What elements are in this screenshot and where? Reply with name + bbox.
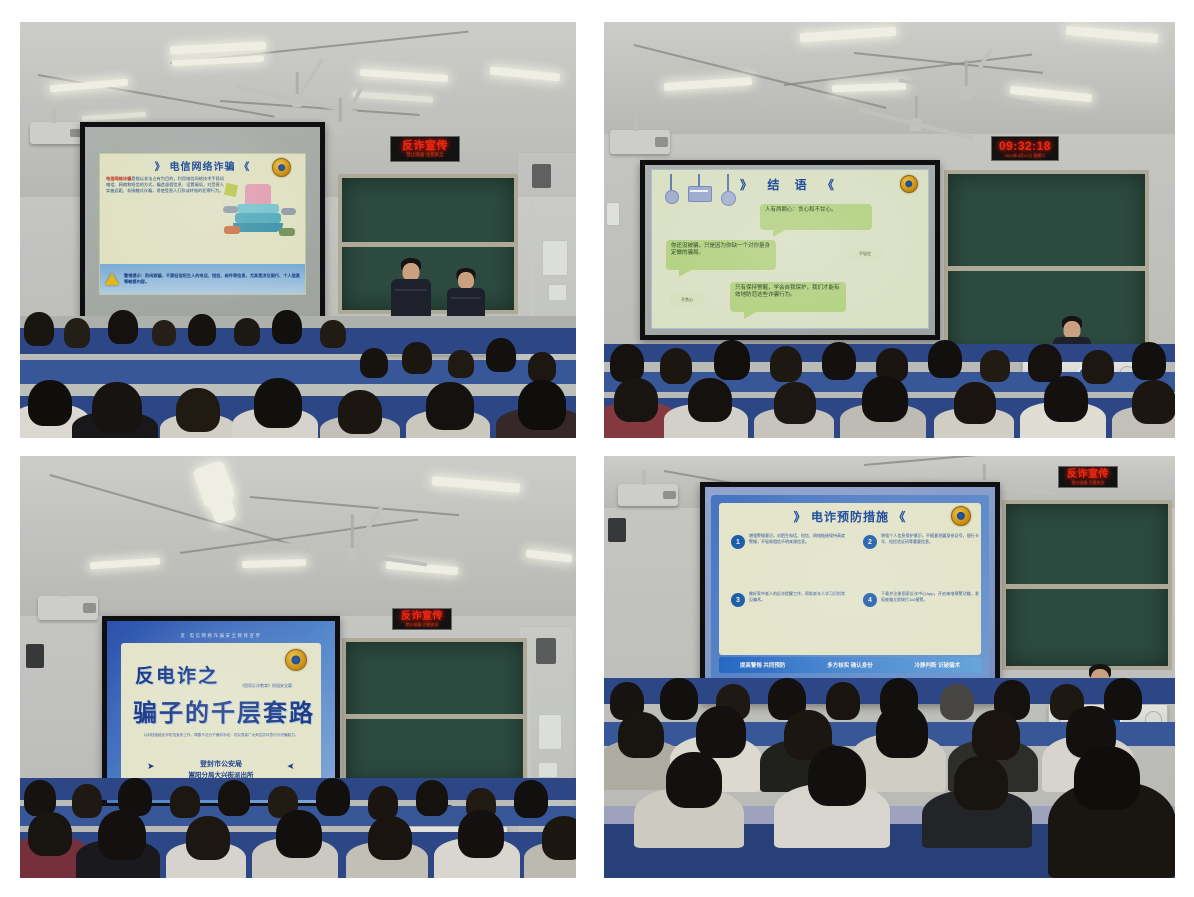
- slide-lead-term: 电信网络诈骗: [106, 176, 131, 181]
- student-head: [1044, 376, 1088, 422]
- student-head: [402, 342, 432, 374]
- slide-title-line1: 反电诈之: [135, 661, 219, 688]
- student-head: [542, 816, 576, 860]
- slide-title-cover: 反·电信网络诈骗安全教育宣传 反电诈之 《国家反诈教育》校园安全篇 骗子的千层套…: [107, 621, 335, 803]
- student-head: [448, 350, 474, 378]
- student-head: [808, 746, 866, 806]
- slide-telecom-fraud-definition: 》 电信网络诈骗 《 电信网络诈骗是指以非法占有为目的，利用电信网络技术手段如电…: [99, 153, 306, 295]
- student-head: [28, 380, 72, 426]
- student-head: [618, 712, 664, 758]
- photo-panel-top-left: 反诈宣传 禁止吸烟 注意安全 》 电信网络诈骗 《 电信网络诈骗是指以非法占有为…: [20, 22, 576, 438]
- student-head: [92, 382, 142, 434]
- photo-collage: 反诈宣传 禁止吸烟 注意安全 》 电信网络诈骗 《 电信网络诈骗是指以非法占有为…: [0, 0, 1194, 897]
- projection-screen: 》 电诈预防措施 《 1 增强警惕意识，对陌生电话、短信、网络链接保持高度警惕，…: [700, 482, 1000, 704]
- audience-area: [20, 308, 576, 438]
- student-head: [826, 682, 860, 720]
- ceiling-fan: [852, 96, 980, 146]
- student-head: [272, 310, 302, 344]
- student-head: [486, 338, 516, 372]
- led-scrolling-sign: 反诈宣传 禁止吸烟 注意安全: [392, 608, 452, 630]
- student-head: [514, 780, 548, 818]
- student-head: [152, 320, 176, 346]
- blackboard: [1002, 500, 1172, 670]
- tag-no-trust: 不轻信: [848, 248, 882, 260]
- police-emblem-icon: [272, 158, 291, 177]
- student-head: [1074, 746, 1140, 810]
- student-head: [954, 756, 1008, 810]
- warning-triangle-icon: [105, 273, 119, 285]
- item-text-1: 增强警惕意识，对陌生电话、短信、网络链接保持高度警惕，不轻易相信不明来源信息。: [749, 533, 845, 545]
- student-head: [28, 812, 72, 856]
- student-head: [218, 780, 250, 816]
- ribbon-item-2: 多方核实 确认身份: [827, 661, 873, 669]
- tag-no-greed: 不贪心: [670, 294, 704, 306]
- audience-area: [604, 338, 1175, 438]
- item-number-2: 2: [863, 535, 877, 549]
- slide-kicker: 反·电信网络诈骗安全教育宣传: [107, 633, 335, 639]
- student-head: [108, 310, 138, 344]
- blackboard: [944, 170, 1149, 362]
- ribbon-item-3: 冷静判断 识破骗术: [915, 661, 961, 669]
- student-head: [98, 810, 146, 860]
- student-head: [822, 342, 856, 380]
- slide-body-text: 电信网络诈骗是指以非法占有为目的，利用电信网络技术手段如电话、网络和短信的方式，…: [106, 176, 224, 194]
- lecture-hall-scene: 反诈宣传 禁止吸烟 注意安全 》 电诈预防措施 《 1 增强警惕意识，对陌生电话…: [604, 456, 1175, 878]
- student-head: [862, 376, 908, 422]
- wall-speaker: [608, 518, 626, 542]
- student-head: [1132, 380, 1175, 424]
- led-scrolling-sign: 反诈宣传 禁止吸烟 注意安全: [390, 136, 460, 162]
- student-head: [1082, 350, 1114, 384]
- student-head: [940, 684, 974, 720]
- speech-bubble-1: 人有两颗心：贪心和不甘心。: [760, 204, 872, 230]
- fraud-illustration: [223, 182, 297, 244]
- coin-hook-icon: [720, 174, 736, 210]
- student-head: [458, 810, 504, 858]
- student-head: [24, 780, 56, 816]
- audience-area: [20, 778, 576, 878]
- student-head: [360, 348, 388, 378]
- lecture-hall-scene: 反诈宣传 禁止吸烟 注意安全 》 电信网络诈骗 《 电信网络诈骗是指以非法占有为…: [20, 22, 576, 438]
- student-head: [24, 312, 54, 346]
- led-sign-line1: 反诈宣传: [401, 611, 443, 622]
- student-head: [770, 346, 802, 382]
- bank-card-hook-icon: [688, 174, 710, 208]
- student-head: [276, 810, 322, 858]
- item-text-4: 下载并注册国家反诈中心App，开启来电预警功能，发现被骗立即拨打110报警。: [881, 591, 979, 603]
- student-head: [176, 388, 220, 432]
- audience-area: [604, 678, 1175, 878]
- police-emblem-icon: [285, 649, 307, 671]
- student-head: [64, 318, 90, 348]
- slide-title: 》 电诈预防措施 《: [719, 508, 981, 525]
- screen-surface: 反·电信网络诈骗安全教育宣传 反电诈之 《国家反诈教育》校园安全篇 骗子的千层套…: [107, 621, 335, 803]
- photo-panel-bottom-right: 反诈宣传 禁止吸烟 注意安全 》 电诈预防措施 《 1 增强警惕意识，对陌生电话…: [604, 456, 1175, 878]
- student-head: [774, 382, 816, 424]
- photo-panel-bottom-left: 反诈宣传 禁止吸烟 注意安全 反·电信网络诈骗安全教育宣传 反电诈之 《国家反诈…: [20, 456, 576, 878]
- ceiling-fan: [272, 514, 432, 578]
- slide-title-line2: 骗子的千层套路: [133, 693, 315, 728]
- student-head: [714, 340, 750, 380]
- chevron-right-icon: ➤: [147, 761, 155, 772]
- led-scrolling-sign: 反诈宣传 禁止吸烟 注意安全: [1058, 466, 1118, 488]
- slide-warning-text: 警惕提示：防闲欺骗，不要轻信陌生人的电话、短信、邮件等信息，尤其是涉及银行、个人…: [124, 273, 300, 286]
- item-text-2: 增强个人信息保护意识，不随意泄露身份证号、银行卡号、短信验证码等重要信息。: [881, 533, 979, 545]
- projector: [610, 130, 670, 154]
- police-emblem-icon: [900, 175, 918, 193]
- student-head: [316, 778, 350, 816]
- student-head: [72, 784, 102, 818]
- led-scrolling-sign: 09:32:18 2024年3月12日 星期二: [991, 136, 1059, 161]
- student-head: [666, 752, 722, 808]
- blackboard: [342, 638, 527, 788]
- student-head: [660, 348, 692, 384]
- speech-bubble-2: 你还没被骗，只是因为你缺一个对你量身定做的骗局。: [666, 240, 776, 270]
- lecture-hall-scene: 09:32:18 2024年3月12日 星期二 》 结 语 《: [604, 22, 1175, 438]
- screen-surface: 》 电信网络诈骗 《 电信网络诈骗是指以非法占有为目的，利用电信网络技术手段如电…: [85, 127, 320, 317]
- led-sign-line1: 反诈宣传: [402, 140, 448, 152]
- item-text-3: 做好家中老人的反诈提醒工作，帮助老年人学习识别常见骗术。: [749, 591, 845, 603]
- chevron-left-icon: ➤: [287, 761, 295, 772]
- item-number-1: 1: [731, 535, 745, 549]
- police-emblem-icon: [951, 506, 971, 526]
- student-head: [688, 378, 732, 422]
- wall-utility-box: [606, 202, 620, 226]
- item-number-4: 4: [863, 593, 877, 607]
- student-head: [1132, 342, 1166, 380]
- student-head: [660, 678, 698, 720]
- student-head: [188, 314, 216, 346]
- wall-speaker: [26, 644, 44, 668]
- led-sign-line1: 反诈宣传: [1067, 469, 1109, 480]
- slide-inner-card: 》 电诈预防措施 《 1 增强警惕意识，对陌生电话、短信、网络链接保持高度警惕，…: [719, 503, 981, 655]
- student-head: [696, 706, 746, 758]
- student-head: [528, 352, 556, 382]
- ribbon-item-1: 提高警惕 共同预防: [740, 661, 786, 669]
- projector: [618, 484, 678, 506]
- student-head: [518, 380, 566, 430]
- student-head: [426, 382, 474, 430]
- student-head: [980, 350, 1010, 382]
- screen-surface: 》 电诈预防措施 《 1 增强警惕意识，对陌生电话、短信、网络链接保持高度警惕，…: [705, 487, 995, 699]
- student-head: [876, 704, 928, 758]
- student-head: [368, 786, 398, 820]
- screen-surface: 》 结 语 《: [645, 165, 935, 335]
- led-sign-line2: 禁止吸烟 注意安全: [406, 152, 443, 158]
- led-sign-line1: 09:32:18: [999, 140, 1051, 153]
- student-head: [338, 390, 382, 434]
- student-head: [320, 320, 346, 348]
- student-head: [610, 344, 644, 382]
- student-head: [170, 786, 200, 818]
- item-number-3: 3: [731, 593, 745, 607]
- slide-body-text: 以科技赋能反诈防范宣传工作，揭露不法分子骗财手段，切实提高广大师生防诈意识与识骗…: [133, 733, 309, 739]
- led-sign-line2: 禁止吸烟 注意安全: [405, 622, 438, 627]
- projection-screen: 》 电信网络诈骗 《 电信网络诈骗是指以非法占有为目的，利用电信网络技术手段如电…: [80, 122, 325, 322]
- led-sign-line2: 禁止吸烟 注意安全: [1071, 480, 1104, 485]
- projector: [38, 596, 98, 620]
- student-head: [368, 816, 412, 860]
- at-hook-icon: [664, 174, 678, 208]
- student-head: [954, 382, 996, 424]
- student-head: [928, 340, 962, 378]
- lecture-hall-scene: 反诈宣传 禁止吸烟 注意安全 反·电信网络诈骗安全教育宣传 反电诈之 《国家反诈…: [20, 456, 576, 878]
- student-head: [234, 318, 260, 346]
- photo-panel-top-right: 09:32:18 2024年3月12日 星期二 》 结 语 《: [604, 22, 1175, 438]
- slide-ribbon: 提高警惕 共同预防 多方核实 确认身份 冷静判断 识破骗术: [719, 657, 981, 673]
- student-head: [416, 780, 448, 816]
- student-head: [972, 710, 1020, 760]
- student-head: [614, 378, 658, 422]
- slide-conclusion: 》 结 语 《: [651, 169, 929, 329]
- slide-prevention-measures: 》 电诈预防措施 《 1 增强警惕意识，对陌生电话、短信、网络链接保持高度警惕，…: [711, 495, 989, 691]
- slide-inner-card: 反电诈之 《国家反诈教育》校园安全篇 骗子的千层套路 以科技赋能反诈防范宣传工作…: [121, 643, 321, 787]
- student-head: [186, 816, 230, 860]
- led-sign-line2: 2024年3月12日 星期二: [1005, 153, 1046, 158]
- student-head: [1028, 344, 1062, 382]
- projection-screen: 》 结 语 《: [640, 160, 940, 340]
- slide-warning-bar: 警惕提示：防闲欺骗，不要轻信陌生人的电话、短信、邮件等信息，尤其是涉及银行、个人…: [100, 264, 305, 294]
- student-head: [254, 378, 302, 428]
- projector: [30, 122, 84, 144]
- slide-subtitle: 《国家反诈教育》校园安全篇: [221, 683, 311, 689]
- speech-bubble-3: 只有保持警醒，学会自我保护，我们才能有效地防范这些诈骗行为。: [730, 282, 846, 312]
